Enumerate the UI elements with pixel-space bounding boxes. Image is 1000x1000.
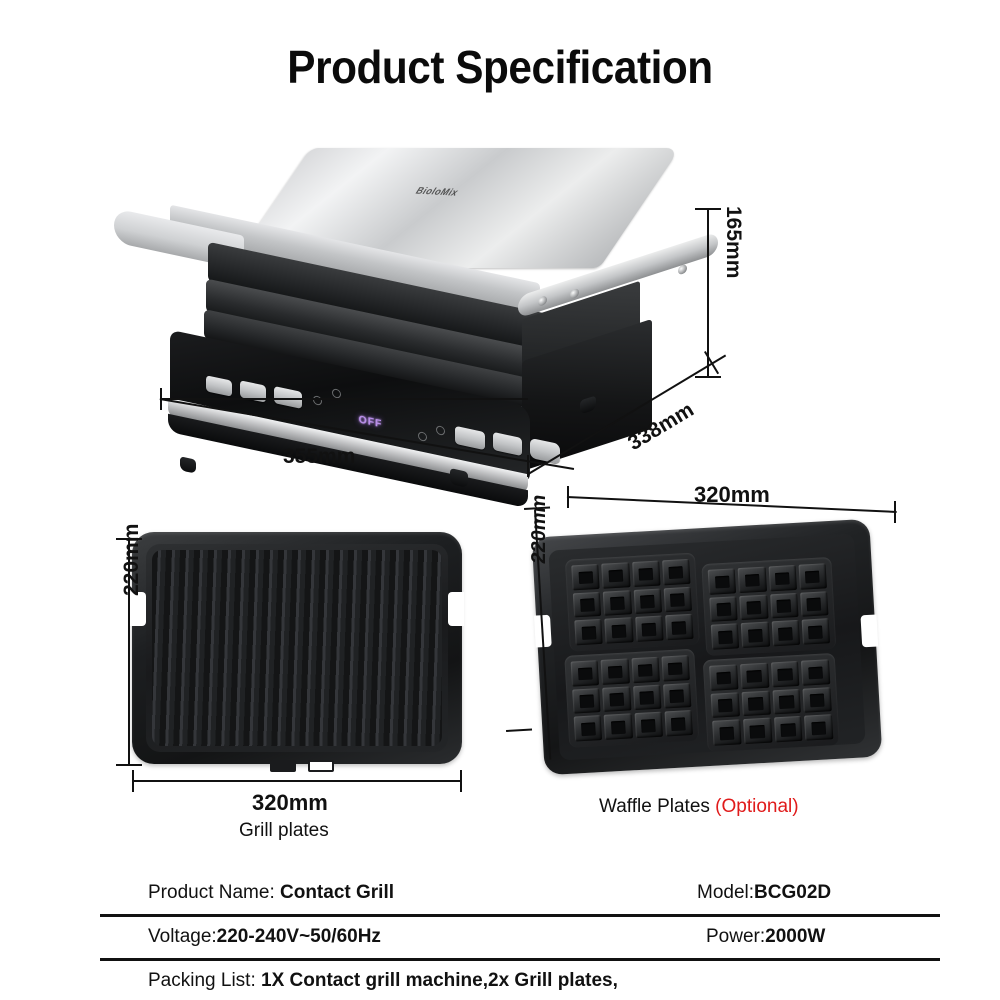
waffle-quadrant — [565, 553, 700, 652]
dimension-waffle-plate-width: 320mm — [694, 482, 770, 508]
spec-table: Product Name: Contact Grill Model:BCG02D… — [0, 876, 1000, 996]
waffle-plate-optional-tag: (Optional) — [715, 796, 798, 817]
spec-sheet: Product Specification BioloMix OFF — [0, 0, 1000, 1000]
page-title: Product Specification — [40, 40, 960, 94]
dimension-waffle-plate-height: 220mm — [528, 493, 551, 565]
waffle-plate-body — [532, 519, 883, 775]
packing-list-value: 1X Contact grill machine,2x Grill plates… — [261, 970, 618, 991]
dimension-grill-plate-width: 320mm — [252, 790, 328, 816]
dimension-height: 165mm — [721, 206, 745, 278]
spec-row-packing-list: Packing List: 1X Contact grill machine,2… — [0, 956, 1000, 996]
brand-logo: BioloMix — [413, 186, 460, 198]
dim-tick-bottom — [506, 729, 532, 732]
dim-tick-right — [460, 770, 462, 792]
power-label: Power: — [706, 926, 765, 947]
waffle-plate-image — [532, 519, 883, 775]
plate-notch-right — [448, 592, 464, 626]
packing-list-label: Packing List: — [148, 970, 261, 991]
waffle-quadrant — [564, 649, 699, 748]
plate-notch-right — [860, 614, 878, 647]
waffle-quadrant — [703, 653, 840, 752]
grill-plate-surface — [146, 544, 448, 752]
plate-notch-left — [130, 592, 146, 626]
waffle-plate-label: Waffle Plates — [599, 796, 710, 817]
dim-line-width — [160, 398, 528, 400]
model-label: Model: — [697, 882, 754, 903]
power-value: 2000W — [765, 926, 825, 947]
dim-tick-right — [894, 501, 896, 523]
plate-tab — [270, 760, 296, 772]
rivet-icon — [538, 295, 547, 307]
dim-line-height — [707, 208, 709, 378]
spec-row-voltage: Voltage:220-240V~50/60Hz Power:2000W — [0, 916, 1000, 956]
plate-tab — [308, 760, 334, 772]
grill-plate-body — [132, 532, 462, 764]
dim-tick-left — [132, 770, 134, 792]
grill-ridges — [152, 550, 442, 746]
waffle-quadrant — [701, 557, 836, 656]
dimension-width: 355mm — [283, 445, 355, 469]
dim-line-plate-width — [132, 780, 462, 782]
dim-tick-top — [695, 208, 721, 210]
rivet-icon — [678, 264, 687, 276]
dim-tick-bottom — [116, 764, 142, 766]
dim-tick-left — [567, 486, 569, 508]
waffle-plate-surface — [548, 534, 865, 761]
rivet-icon — [570, 288, 579, 300]
spec-row-product-name: Product Name: Contact Grill Model:BCG02D — [0, 876, 1000, 916]
voltage-label: Voltage: — [148, 926, 217, 947]
foot — [180, 456, 196, 473]
grill-plate-caption: Grill plates — [239, 820, 329, 842]
voltage-value: 220-240V~50/60Hz — [217, 926, 381, 947]
dimension-grill-plate-height: 220mm — [120, 524, 144, 596]
product-name-label: Product Name: — [148, 882, 280, 903]
waffle-plate-caption: Waffle Plates (Optional) — [599, 796, 799, 818]
product-name-value: Contact Grill — [280, 882, 394, 903]
model-value: BCG02D — [754, 882, 831, 903]
grill-plate-image — [132, 532, 462, 764]
dim-tick-bottom — [695, 376, 721, 378]
